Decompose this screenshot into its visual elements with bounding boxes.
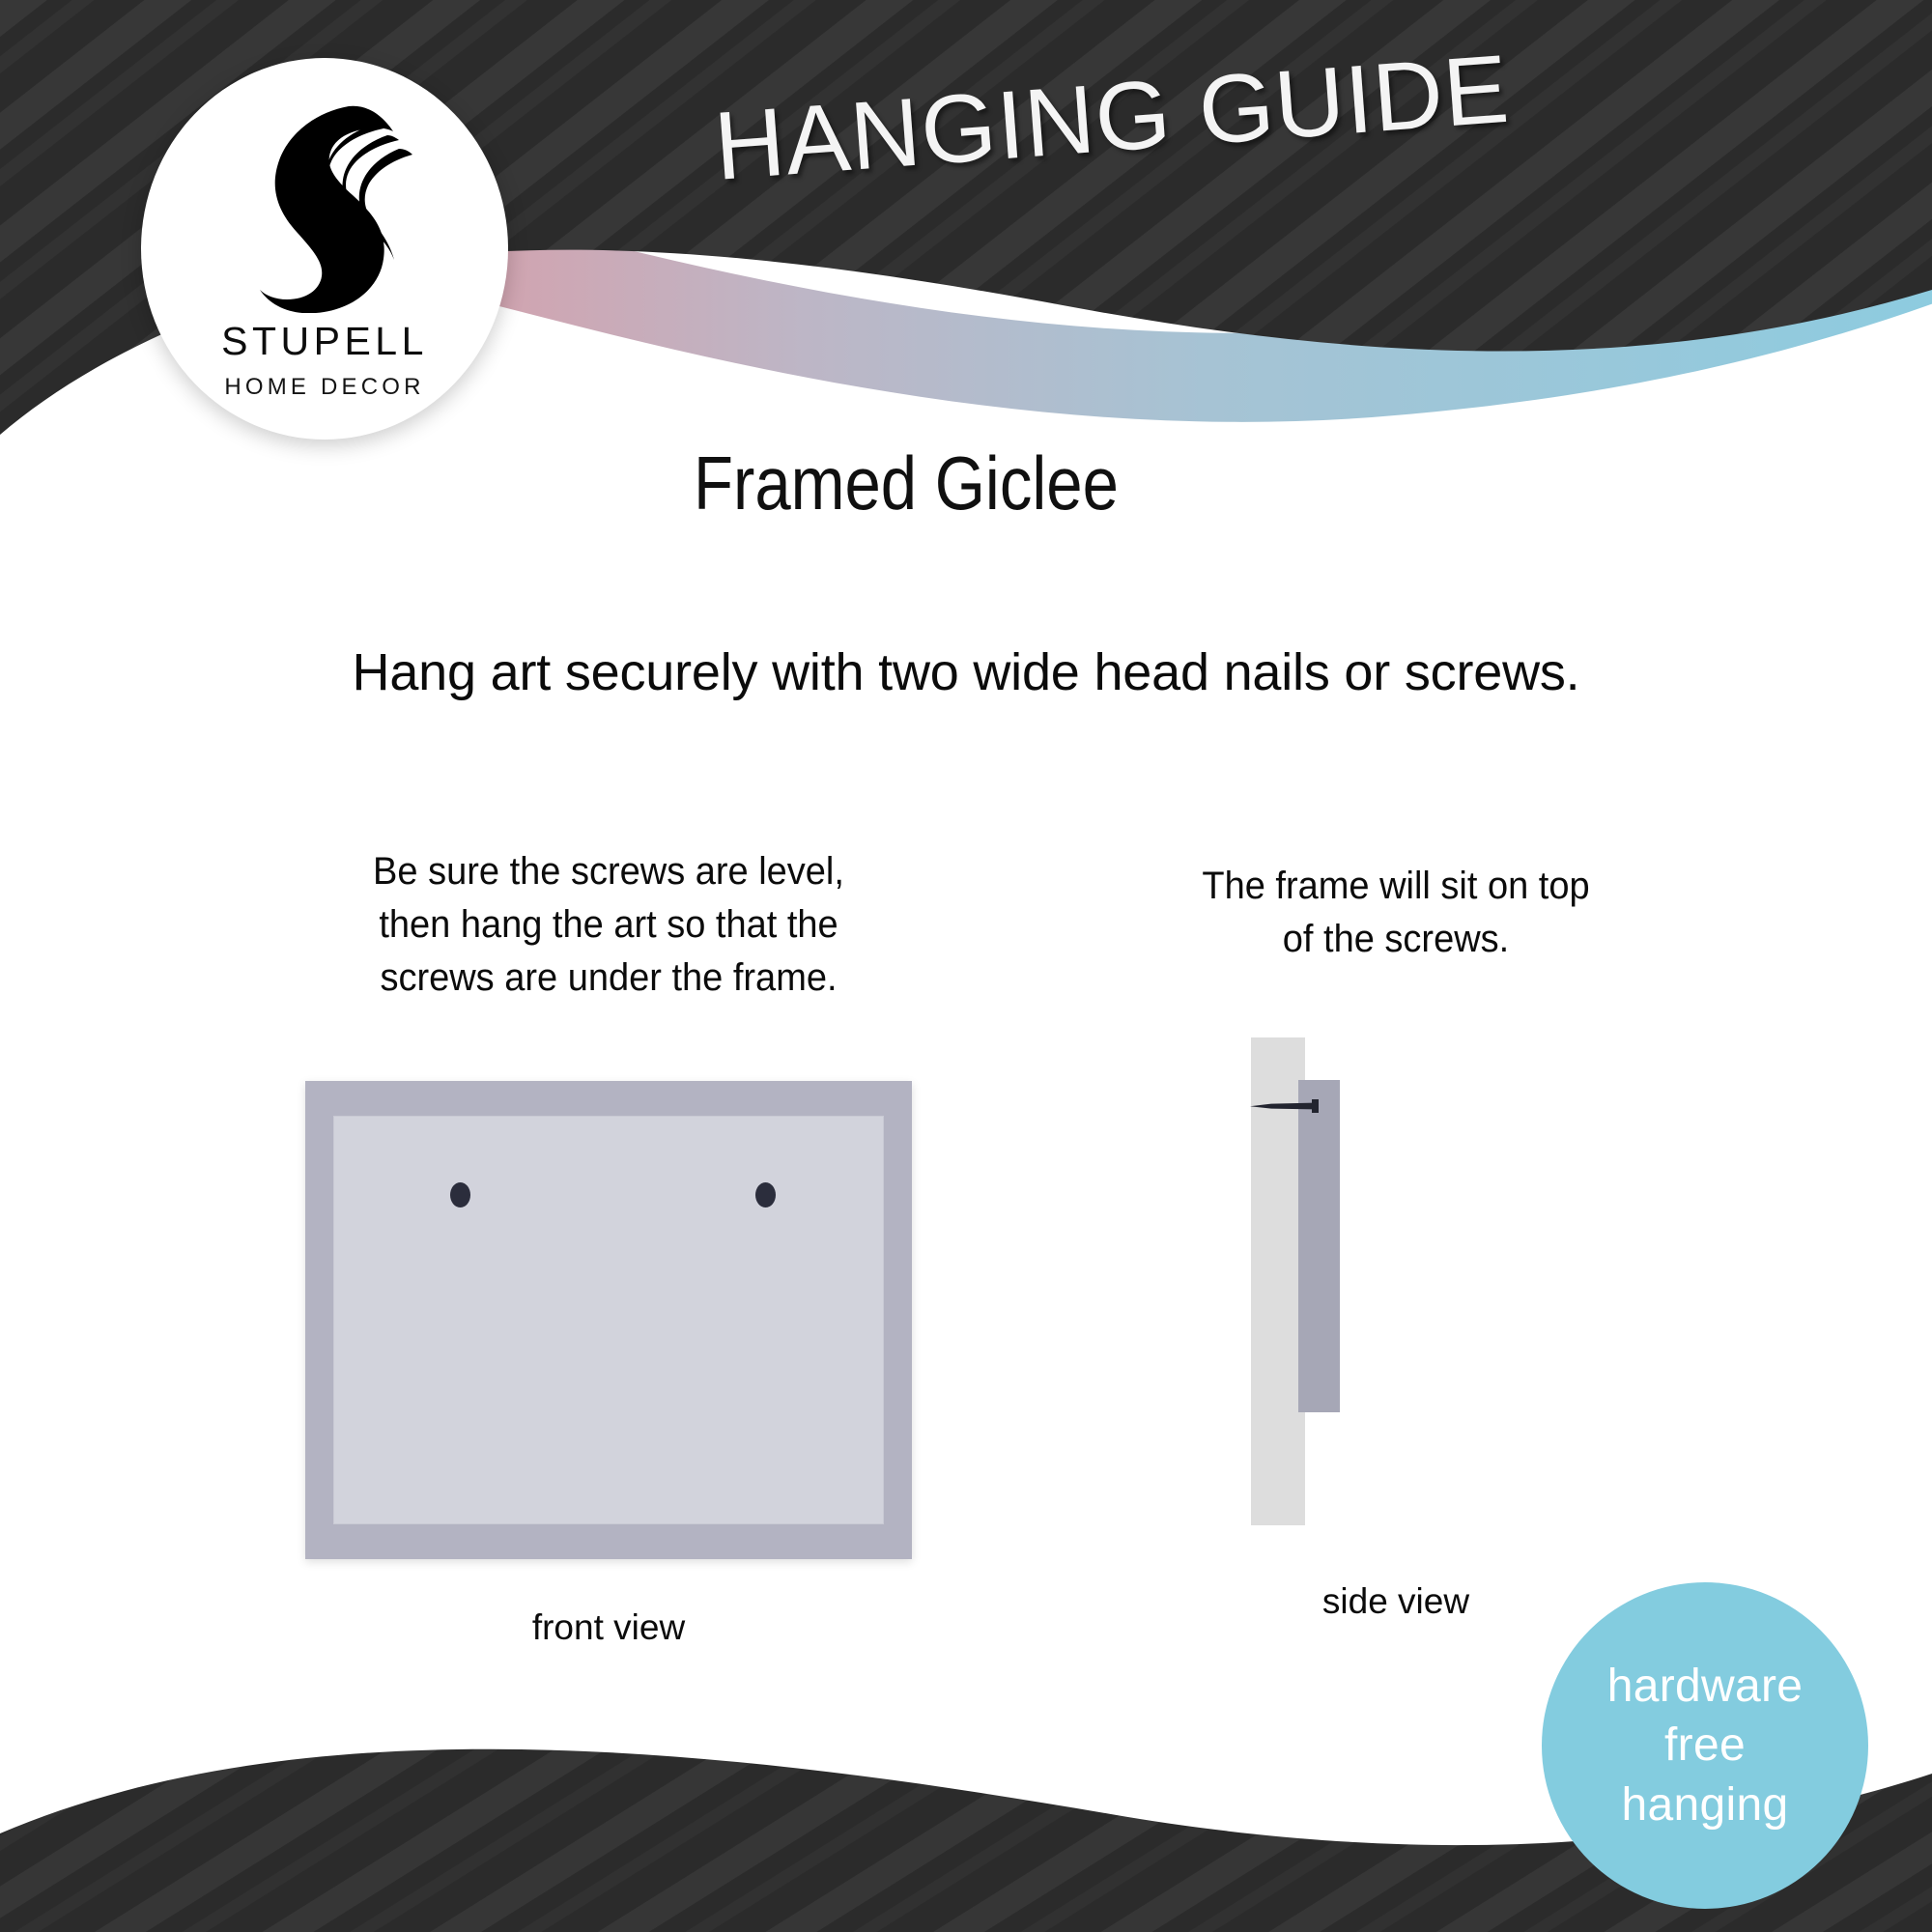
hardware-free-badge: hardware free hanging (1542, 1582, 1868, 1909)
front-view-label: front view (261, 1607, 956, 1648)
front-view-diagram (305, 1081, 912, 1559)
caption-line: of the screws. (1125, 913, 1667, 966)
front-view-caption: Be sure the screws are level, then hang … (278, 845, 939, 1006)
frame-edge-strip (1298, 1080, 1340, 1412)
badge-line: hanging (1622, 1776, 1789, 1834)
side-view-caption: The frame will sit on top of the screws. (1125, 860, 1667, 966)
product-type-heading: Framed Giclee (694, 440, 1119, 527)
hanging-guide-page: STUPELL HOME DECOR HANGING GUIDE Framed … (0, 0, 1932, 1932)
brand-name: STUPELL (221, 319, 428, 364)
screw-dot-icon (450, 1182, 470, 1207)
page-title: HANGING GUIDE (711, 34, 1513, 203)
front-view-panel: Be sure the screws are level, then hang … (261, 845, 956, 1648)
stupell-swirl-logo-icon (233, 100, 416, 313)
screw-dot-icon (755, 1182, 776, 1207)
badge-line: hardware (1607, 1657, 1804, 1716)
side-view-label: side view (1111, 1581, 1681, 1622)
brand-logo-badge: STUPELL HOME DECOR (141, 58, 508, 440)
side-view-diagram (1251, 1037, 1541, 1525)
caption-line: Be sure the screws are level, (278, 845, 939, 898)
lead-instruction: Hang art securely with two wide head nai… (0, 642, 1932, 702)
front-view-mat (333, 1116, 884, 1524)
side-view-panel: The frame will sit on top of the screws.… (1111, 860, 1681, 1622)
caption-line: screws are under the frame. (278, 952, 939, 1005)
badge-line: free (1664, 1716, 1746, 1775)
caption-line: then hang the art so that the (278, 898, 939, 952)
brand-tagline: HOME DECOR (224, 374, 424, 401)
caption-line: The frame will sit on top (1125, 860, 1667, 913)
nail-icon (1250, 1099, 1327, 1113)
